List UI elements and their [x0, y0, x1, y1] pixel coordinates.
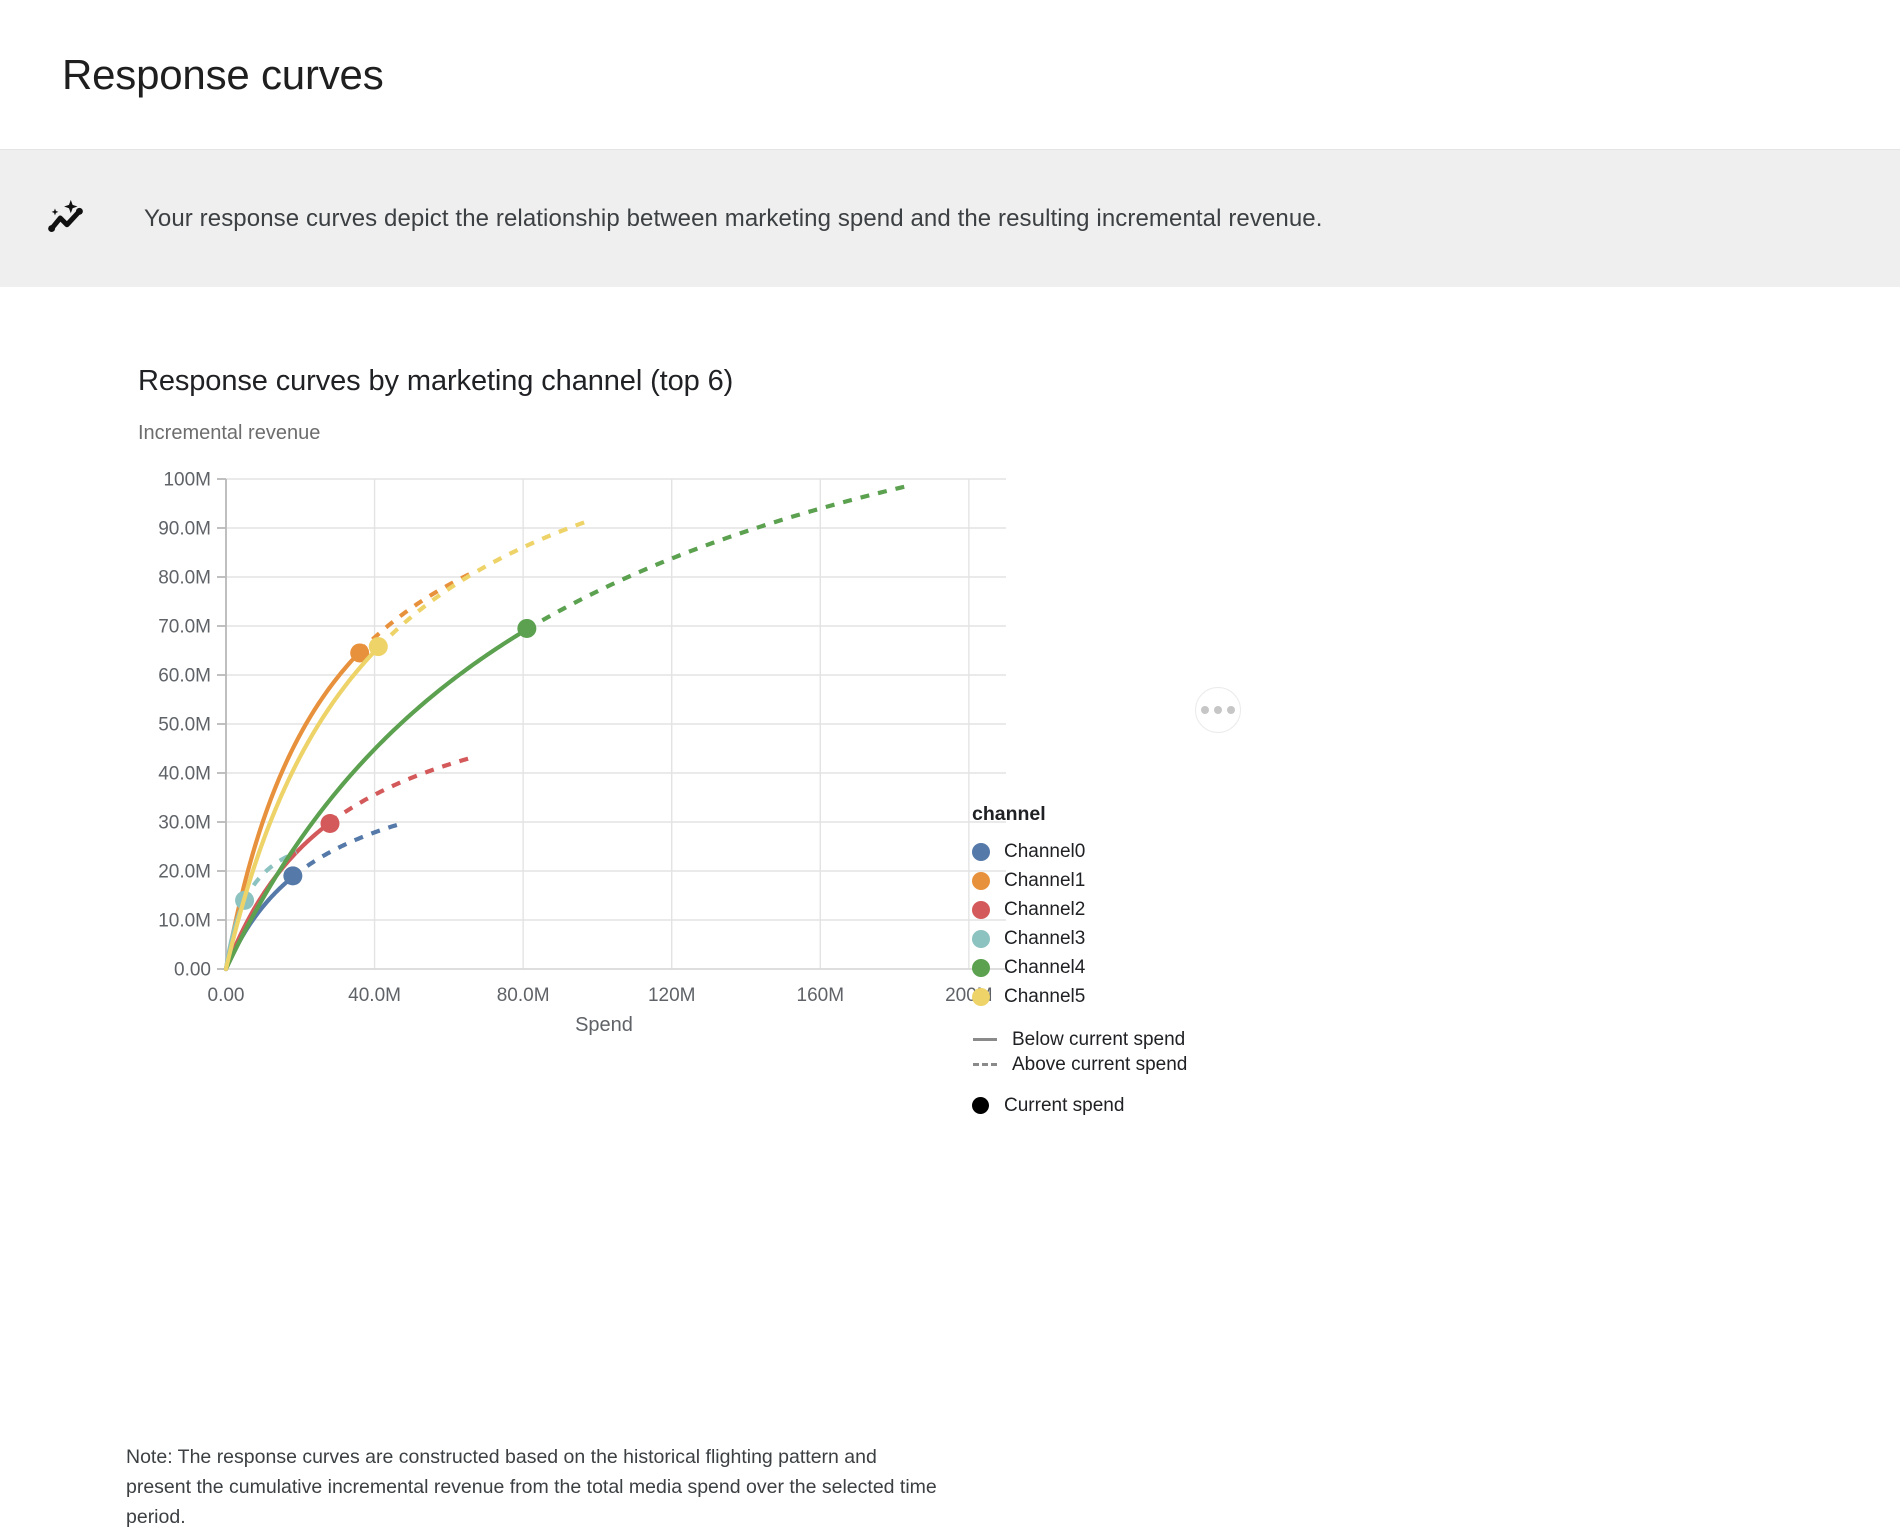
- svg-text:0.00: 0.00: [208, 985, 245, 1006]
- channel5-color-swatch-icon: [972, 988, 990, 1006]
- svg-text:0.00: 0.00: [174, 960, 211, 981]
- legend-item-channel2[interactable]: Channel2: [972, 895, 1232, 924]
- chart-plot-area: 0.0010.0M20.0M30.0M40.0M50.0M60.0M70.0M8…: [138, 461, 1018, 1061]
- banner-text: Your response curves depict the relation…: [144, 205, 1323, 233]
- channel4-color-swatch-icon: [972, 959, 990, 977]
- current-spend-point-Channel2: [321, 814, 340, 833]
- legend-label-channel3: Channel3: [1004, 928, 1085, 950]
- legend-divider-space-2: [972, 1077, 1232, 1093]
- legend-item-channel3[interactable]: Channel3: [972, 924, 1232, 953]
- channel2-color-swatch-icon: [972, 901, 990, 919]
- legend-label-channel4: Channel4: [1004, 957, 1085, 979]
- series-Channel2: [226, 758, 471, 969]
- current-spend-point-Channel5: [369, 637, 388, 656]
- svg-text:120M: 120M: [648, 985, 696, 1006]
- current-spend-marker-icon: [972, 1097, 989, 1114]
- legend-label-channel5: Channel5: [1004, 986, 1085, 1008]
- svg-text:20.0M: 20.0M: [158, 862, 211, 883]
- svg-text:90.0M: 90.0M: [158, 519, 211, 540]
- svg-text:160M: 160M: [797, 985, 845, 1006]
- legend-label-channel1: Channel1: [1004, 870, 1085, 892]
- solid-line-icon: [972, 1038, 998, 1041]
- chart-legend: channel Channel0 Channel1 Channel2 Chann…: [972, 803, 1232, 1118]
- legend-item-channel1[interactable]: Channel1: [972, 866, 1232, 895]
- legend-item-above-current-spend[interactable]: Above current spend: [972, 1052, 1232, 1077]
- svg-text:80.0M: 80.0M: [158, 568, 211, 589]
- sparkle-trendline-icon: [40, 193, 92, 245]
- legend-label-channel0: Channel0: [1004, 841, 1085, 863]
- legend-item-channel4[interactable]: Channel4: [972, 953, 1232, 982]
- legend-label-below-current-spend: Below current spend: [1012, 1029, 1185, 1051]
- svg-text:30.0M: 30.0M: [158, 813, 211, 834]
- card-header-row: Response curves by marketing channel (to…: [138, 365, 1268, 398]
- svg-text:10.0M: 10.0M: [158, 911, 211, 932]
- channel1-color-swatch-icon: [972, 872, 990, 890]
- legend-label-channel2: Channel2: [1004, 899, 1085, 921]
- series-Channel4: [226, 486, 906, 969]
- svg-text:Spend: Spend: [575, 1014, 633, 1036]
- response-curves-card: Response curves by marketing channel (to…: [0, 287, 1900, 1061]
- svg-text:70.0M: 70.0M: [158, 617, 211, 638]
- svg-text:60.0M: 60.0M: [158, 666, 211, 687]
- channel3-color-swatch-icon: [972, 930, 990, 948]
- legend-item-below-current-spend[interactable]: Below current spend: [972, 1027, 1232, 1052]
- page-header: Response curves: [0, 0, 1900, 150]
- series-Channel5: [226, 520, 590, 969]
- svg-text:50.0M: 50.0M: [158, 715, 211, 736]
- page-title: Response curves: [62, 51, 384, 99]
- legend-label-current-spend: Current spend: [1004, 1095, 1124, 1117]
- legend-label-above-current-spend: Above current spend: [1012, 1054, 1187, 1076]
- svg-text:40.0M: 40.0M: [348, 985, 401, 1006]
- current-spend-point-Channel4: [517, 619, 536, 638]
- current-spend-point-Channel0: [283, 866, 302, 885]
- svg-text:100M: 100M: [163, 470, 211, 491]
- chart-title: Response curves by marketing channel (to…: [138, 365, 733, 398]
- dashed-line-icon: [972, 1063, 998, 1066]
- svg-text:80.0M: 80.0M: [497, 985, 550, 1006]
- svg-text:40.0M: 40.0M: [158, 764, 211, 785]
- legend-divider-space: [972, 1011, 1232, 1027]
- legend-item-channel5[interactable]: Channel5: [972, 982, 1232, 1011]
- info-banner: Your response curves depict the relation…: [0, 150, 1900, 287]
- legend-title: channel: [972, 803, 1232, 826]
- legend-item-current-spend[interactable]: Current spend: [972, 1093, 1232, 1118]
- channel0-color-swatch-icon: [972, 843, 990, 861]
- legend-item-channel0[interactable]: Channel0: [972, 837, 1232, 866]
- chart-subtitle: Incremental revenue: [138, 422, 1900, 445]
- chart-note: Note: The response curves are constructe…: [126, 1442, 946, 1532]
